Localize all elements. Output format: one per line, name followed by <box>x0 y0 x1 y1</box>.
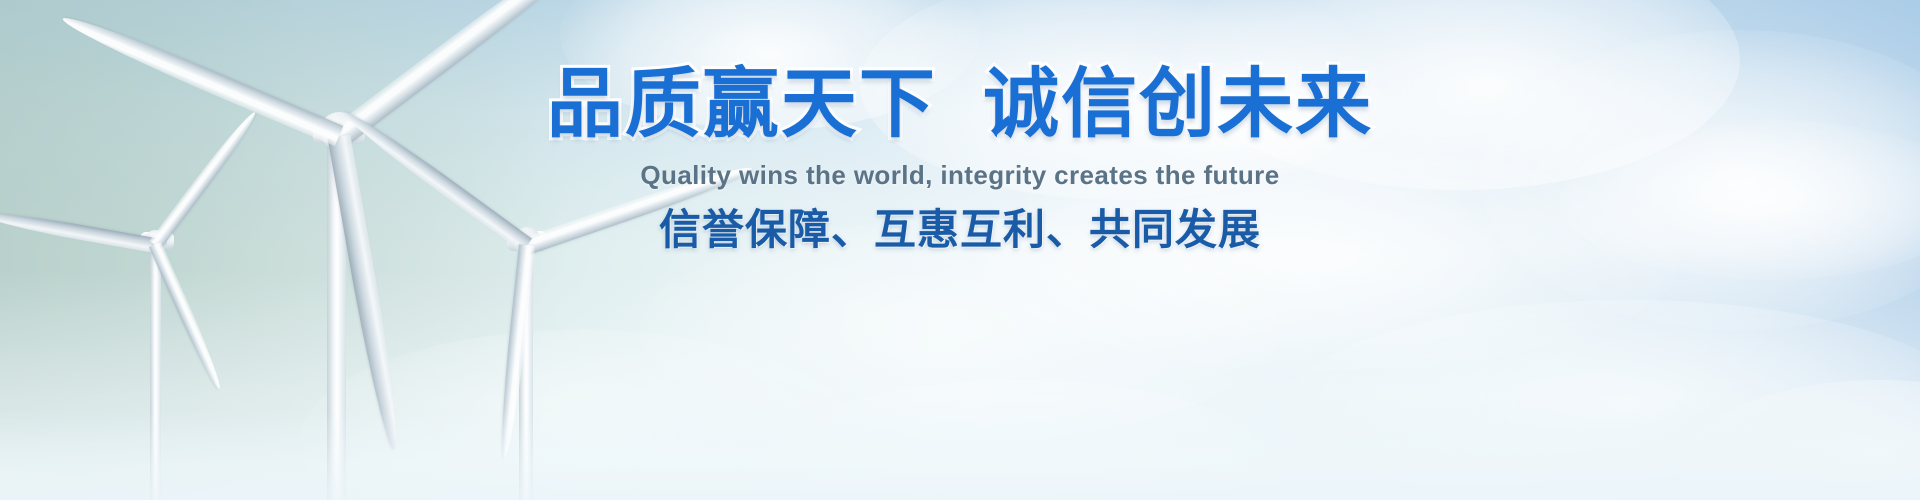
sky-haze <box>0 270 1920 500</box>
banner-tagline: 信誉保障、互惠互利、共同发展 <box>0 203 1920 257</box>
banner-headline: 品质赢天下 诚信创未来 <box>0 66 1920 144</box>
turbine-mast <box>150 243 161 500</box>
banner-subtitle: Quality wins the world, integrity create… <box>0 160 1920 190</box>
hero-banner: 品质赢天下 诚信创未来 Quality wins the world, inte… <box>0 0 1920 500</box>
